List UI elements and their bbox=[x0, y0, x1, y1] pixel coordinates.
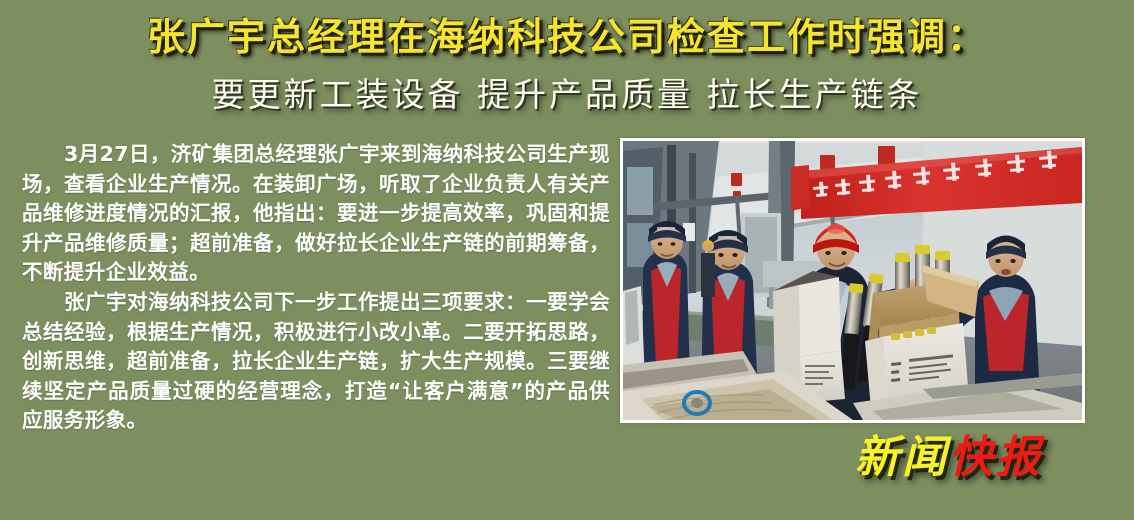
news-photo-illustration bbox=[623, 141, 1082, 420]
news-banner-page: 张广宇总经理在海纳科技公司检查工作时强调： 要更新工装设备 提升产品质量 拉长生… bbox=[0, 0, 1134, 520]
news-photo bbox=[623, 141, 1082, 420]
news-photo-frame bbox=[620, 138, 1085, 423]
header: 张广宇总经理在海纳科技公司检查工作时强调： 要更新工装设备 提升产品质量 拉长生… bbox=[0, 0, 1134, 130]
page-subtitle: 要更新工装设备 提升产品质量 拉长生产链条 bbox=[0, 74, 1134, 116]
program-logo: 新闻快报 bbox=[855, 432, 1043, 484]
program-logo-part-2: 快报 bbox=[949, 432, 1043, 483]
article-body: 3月27日，济矿集团总经理张广宇来到海纳科技公司生产现场，查看企业生产情况。在装… bbox=[22, 140, 610, 436]
article-paragraph-1: 3月27日，济矿集团总经理张广宇来到海纳科技公司生产现场，查看企业生产情况。在装… bbox=[22, 140, 610, 288]
article-paragraph-2: 张广宇对海纳科技公司下一步工作提出三项要求：一要学会总结经验，根据生产情况，积极… bbox=[22, 288, 610, 436]
program-logo-part-1: 新闻 bbox=[855, 432, 949, 483]
page-title: 张广宇总经理在海纳科技公司检查工作时强调： bbox=[0, 14, 1134, 60]
